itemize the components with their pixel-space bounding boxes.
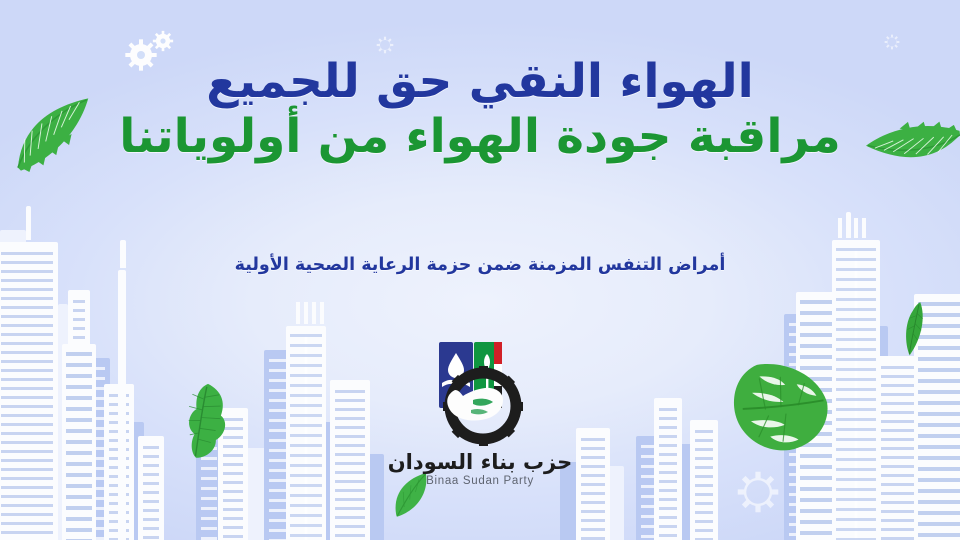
building [832,240,880,540]
building [118,270,126,540]
building-spires [296,302,324,324]
plant-leaf-midleft-icon [171,379,236,468]
building [138,436,164,540]
dove-icon [447,388,503,421]
headline-line-2: مراقبة جودة الهواء من أولوياتنا [0,112,960,162]
party-emblem [425,340,535,448]
building [286,326,326,540]
building-windows [659,408,677,540]
party-name-english: Binaa Sudan Party [370,475,590,487]
building-windows [881,366,915,540]
party-logo: حزب بناء السودان Binaa Sudan Party [370,340,590,487]
building [0,242,58,540]
building-antenna [26,206,31,240]
gear-outline-bottom [736,470,780,518]
gear-solid-small [152,30,174,56]
building [690,420,718,540]
building-windows [1,252,53,540]
building-windows [290,334,322,540]
gear-outline-right [884,34,900,54]
building-windows [695,430,713,540]
poster-canvas: الهواء النقي حق للجميع مراقبة جودة الهوا… [0,0,960,540]
building-windows [143,446,159,540]
monstera-leaf-icon [723,353,837,462]
building-spires [838,218,866,238]
building-windows [641,445,655,540]
party-name-arabic: حزب بناء السودان [370,450,590,474]
headline-line-1: الهواء النقي حق للجميع [0,58,960,106]
subtitle-text: أمراض التنفس المزمنة ضمن حزمة الرعاية ال… [0,255,960,275]
building [330,380,370,540]
building [62,344,96,540]
headline-block: الهواء النقي حق للجميع مراقبة جودة الهوا… [0,58,960,162]
building [654,398,682,540]
building-windows [335,390,365,540]
building-windows [836,248,876,540]
building-windows [66,352,92,540]
